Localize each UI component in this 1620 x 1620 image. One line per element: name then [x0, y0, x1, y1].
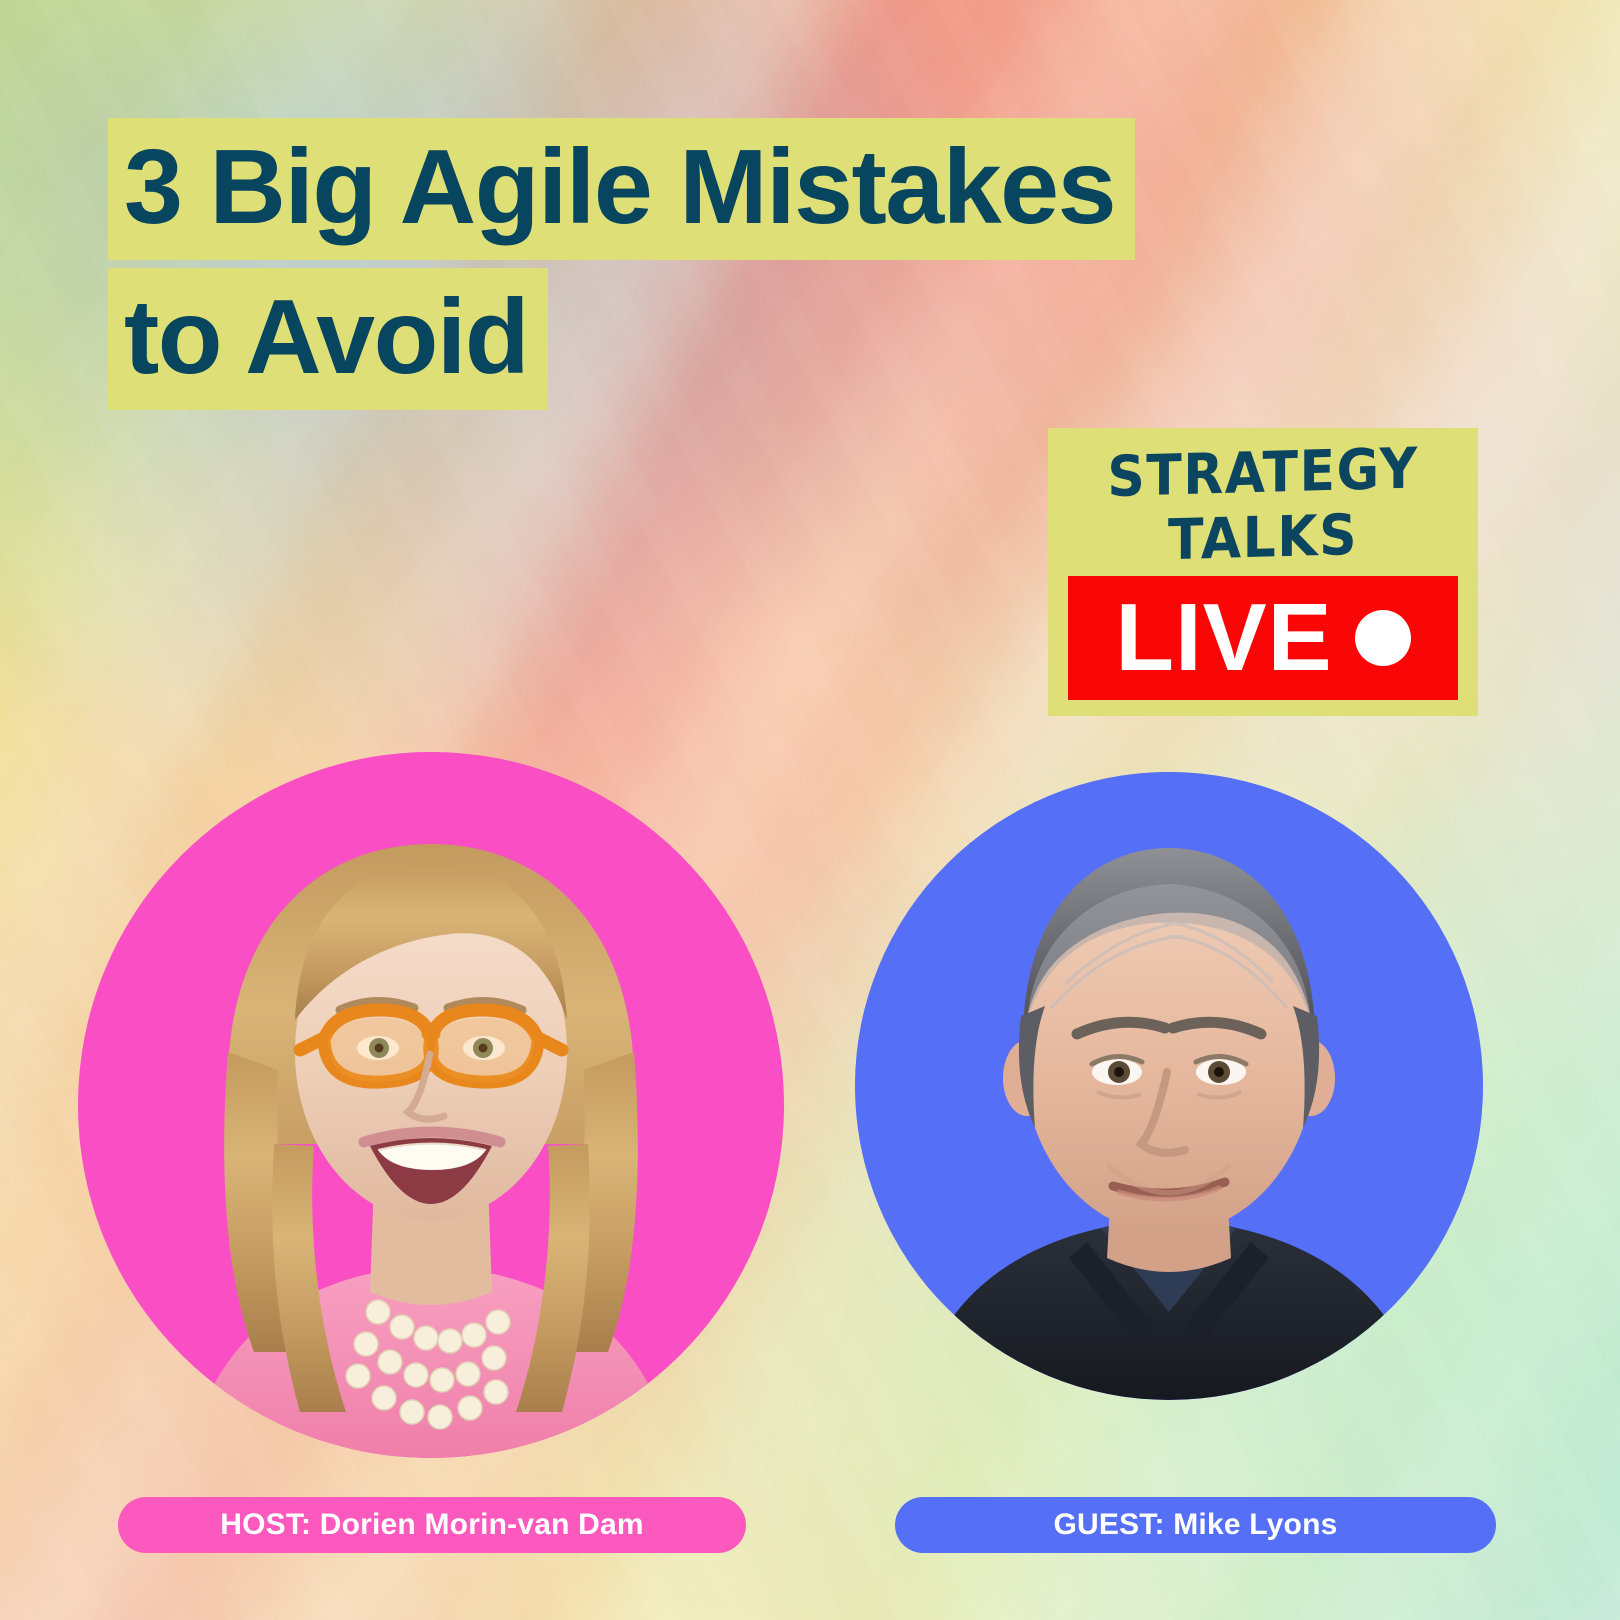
speaker-label-guest-text: GUEST: Mike Lyons: [1053, 1508, 1337, 1542]
strategy-talks-live-badge: STRATEGY TALKS LIVE: [1048, 428, 1478, 716]
title-line-2-row: to Avoid: [108, 268, 1135, 410]
page-title: 3 Big Agile Mistakes to Avoid: [108, 118, 1135, 410]
promo-poster: 3 Big Agile Mistakes to Avoid STRATEGY T…: [0, 0, 1620, 1620]
title-line-1: 3 Big Agile Mistakes: [108, 118, 1135, 260]
badge-wordmark: STRATEGY TALKS: [1048, 429, 1478, 588]
avatar-guest: [855, 772, 1483, 1400]
badge-live-block: LIVE: [1068, 576, 1458, 700]
speaker-label-host: HOST: Dorien Morin-van Dam: [118, 1497, 746, 1553]
title-line-2: to Avoid: [108, 268, 548, 410]
speaker-label-guest: GUEST: Mike Lyons: [895, 1497, 1496, 1553]
guest-portrait-illustration: [855, 772, 1483, 1400]
live-record-dot-icon: [1355, 610, 1411, 666]
badge-live-label: LIVE: [1115, 590, 1332, 686]
host-portrait-illustration: [78, 752, 784, 1458]
title-line-1-row: 3 Big Agile Mistakes: [108, 118, 1135, 260]
avatar-host: [78, 752, 784, 1458]
speaker-label-host-text: HOST: Dorien Morin-van Dam: [220, 1508, 644, 1542]
